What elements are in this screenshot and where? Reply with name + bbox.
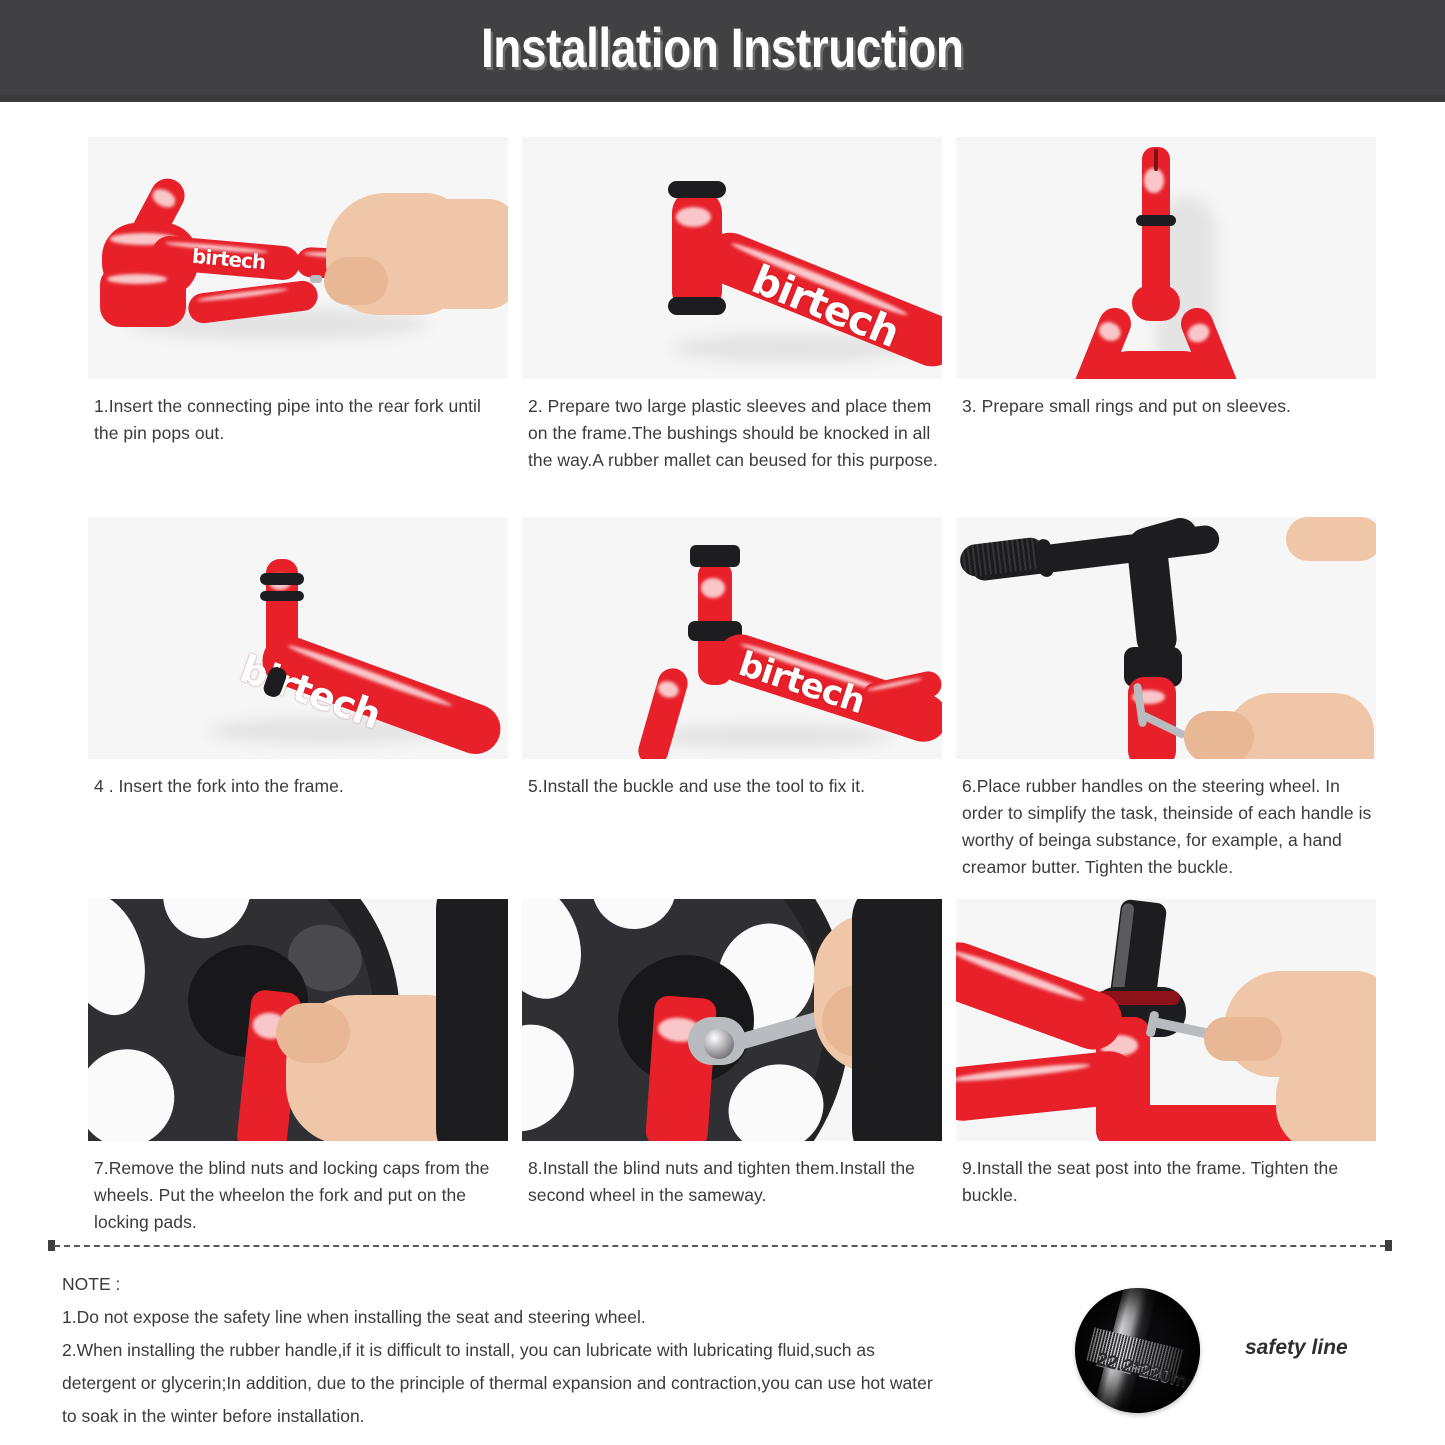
note-item-1: 1.Do not expose the safety line when ins… [62,1301,942,1334]
step-5-photo-install-buckle: birtech [522,517,942,759]
section-divider [48,1240,1392,1252]
step-card-1: birtech 1.Insert the connecting pipe int… [88,137,508,505]
step-card-3: 3. Prepare small rings and put on sleeve… [956,137,1376,505]
step-8-caption: 8.Install the blind nuts and tighten the… [522,1141,942,1209]
step-6-caption: 6.Place rubber handles on the steering w… [956,759,1376,881]
steps-row-1: birtech 1.Insert the connecting pipe int… [88,137,1390,505]
step-card-6: 6.Place rubber handles on the steering w… [956,517,1376,889]
step-card-7: 7.Remove the blind nuts and locking caps… [88,899,508,1236]
safety-line-label: safety line [1245,1336,1348,1360]
step-8-photo-tighten-blind-nuts-with-wrench [522,899,942,1141]
step-1-photo-insert-connecting-pipe: birtech [88,137,508,379]
safety-line-callout: 22.2*220mm safety line [1075,1288,1395,1418]
step-4-caption: 4 . Insert the fork into the frame. [88,759,508,800]
step-4-photo-fork-into-frame: birtech [88,517,508,759]
steps-row-3: 7.Remove the blind nuts and locking caps… [88,899,1390,1236]
divider-cap-right [1385,1240,1392,1251]
step-card-2: birtech 2. Prepare two large plastic sle… [522,137,942,505]
step-1-caption: 1.Insert the connecting pipe into the re… [88,379,508,447]
page-title: Installation Instruction [481,15,964,80]
step-6-photo-rubber-handles-on-steering-wheel [956,517,1376,759]
page-header: Installation Instruction [0,0,1445,95]
steps-row-2: birtech 4 . Insert the fork into the fra… [88,517,1390,889]
divider-line [54,1245,1386,1247]
step-card-9: 9.Install the seat post into the frame. … [956,899,1376,1236]
step-9-caption: 9.Install the seat post into the frame. … [956,1141,1376,1209]
step-card-4: birtech 4 . Insert the fork into the fra… [88,517,508,889]
step-card-8: 8.Install the blind nuts and tighten the… [522,899,942,1236]
step-7-caption: 7.Remove the blind nuts and locking caps… [88,1141,508,1236]
note-section: NOTE : 1.Do not expose the safety line w… [62,1268,942,1433]
step-3-caption: 3. Prepare small rings and put on sleeve… [956,379,1376,420]
photo-vignette [1075,1288,1200,1413]
note-title: NOTE : [62,1268,942,1301]
steps-grid: birtech 1.Insert the connecting pipe int… [88,137,1390,1236]
step-5-caption: 5.Install the buckle and use the tool to… [522,759,942,800]
header-underline [0,95,1445,102]
step-2-caption: 2. Prepare two large plastic sleeves and… [522,379,942,474]
step-3-photo-fork-with-small-ring [956,137,1376,379]
step-2-photo-plastic-sleeves-on-frame: birtech [522,137,942,379]
step-7-photo-remove-blind-nuts [88,899,508,1141]
step-9-photo-install-seat-post [956,899,1376,1141]
step-card-5: birtech 5.Install the buckle and use the… [522,517,942,889]
safety-line-photo: 22.2*220mm [1075,1288,1200,1413]
note-item-2: 2.When installing the rubber handle,if i… [62,1334,942,1433]
